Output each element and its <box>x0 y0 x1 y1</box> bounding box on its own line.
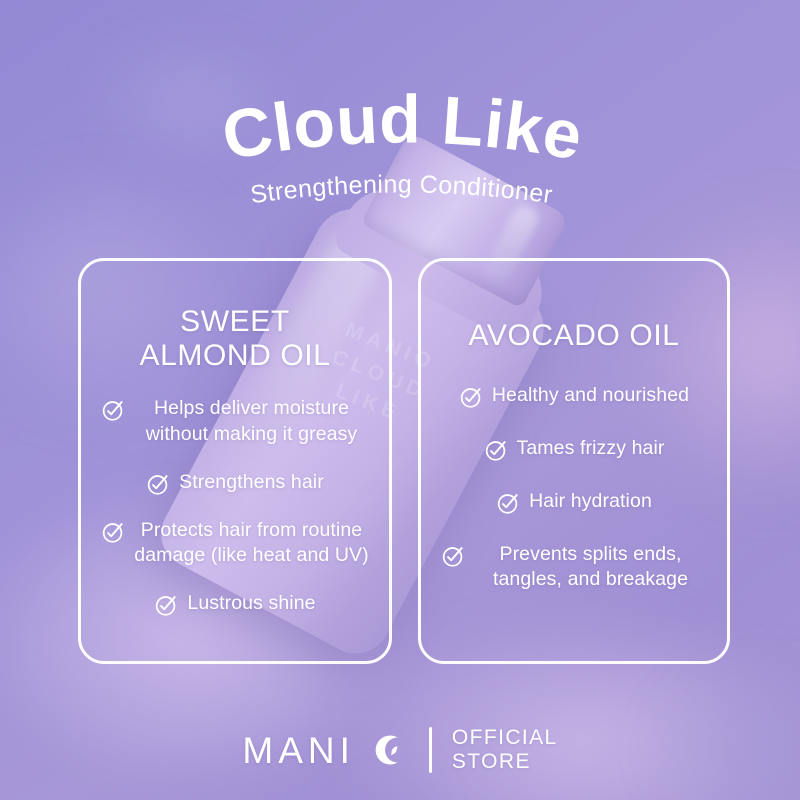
list-item: Hair hydration <box>435 489 713 515</box>
brand-name: MANI <box>242 732 355 769</box>
feature-list-sweet-almond-oil: Helps deliver moisture without making it… <box>95 396 375 617</box>
list-item: Strengthens hair <box>95 470 375 496</box>
list-item: Prevents splits ends, tangles, and break… <box>435 542 713 593</box>
feature-text: Protects hair from routine damage (like … <box>134 518 369 569</box>
list-item: Protects hair from routine damage (like … <box>95 518 375 569</box>
check-circle-icon <box>459 385 483 409</box>
feature-text: Healthy and nourished <box>492 383 689 409</box>
brand-lockup: MANI OFFICIAL STORE <box>0 714 800 786</box>
check-circle-icon <box>101 398 125 422</box>
benefit-panels: SWEET ALMOND OIL Helps deliver moisture … <box>0 0 800 800</box>
list-item: Tames frizzy hair <box>435 436 713 462</box>
check-circle-icon <box>484 438 508 462</box>
feature-text: Tames frizzy hair <box>517 436 665 462</box>
check-circle-icon <box>146 472 170 496</box>
feature-text: Strengthens hair <box>179 470 324 496</box>
brand-divider <box>429 727 432 773</box>
panel-avocado-oil: AVOCADO OIL Healthy and nourished Tames … <box>418 258 730 664</box>
check-circle-icon <box>441 544 465 568</box>
panel-title-avocado-oil: AVOCADO OIL <box>468 319 679 353</box>
list-item: Helps deliver moisture without making it… <box>95 396 375 447</box>
product-marketing-image: MANIO CLOUD LIKE Cloud Like Strengthenin… <box>0 0 800 800</box>
check-circle-icon <box>154 593 178 617</box>
feature-text: Lustrous shine <box>187 591 315 617</box>
feature-text: Helps deliver moisture without making it… <box>134 396 369 447</box>
panel-sweet-almond-oil: SWEET ALMOND OIL Helps deliver moisture … <box>78 258 392 664</box>
check-circle-icon <box>496 491 520 515</box>
official-store-label: OFFICIAL STORE <box>452 726 558 775</box>
check-circle-icon <box>101 520 125 544</box>
feature-text: Hair hydration <box>529 489 652 515</box>
feature-text: Prevents splits ends, tangles, and break… <box>474 542 707 593</box>
feature-list-avocado-oil: Healthy and nourished Tames frizzy hair … <box>435 383 713 593</box>
panel-title-sweet-almond-oil: SWEET ALMOND OIL <box>139 305 330 372</box>
list-item: Lustrous shine <box>95 591 375 617</box>
crescent-leaf-logo-icon <box>367 730 407 770</box>
list-item: Healthy and nourished <box>435 383 713 409</box>
